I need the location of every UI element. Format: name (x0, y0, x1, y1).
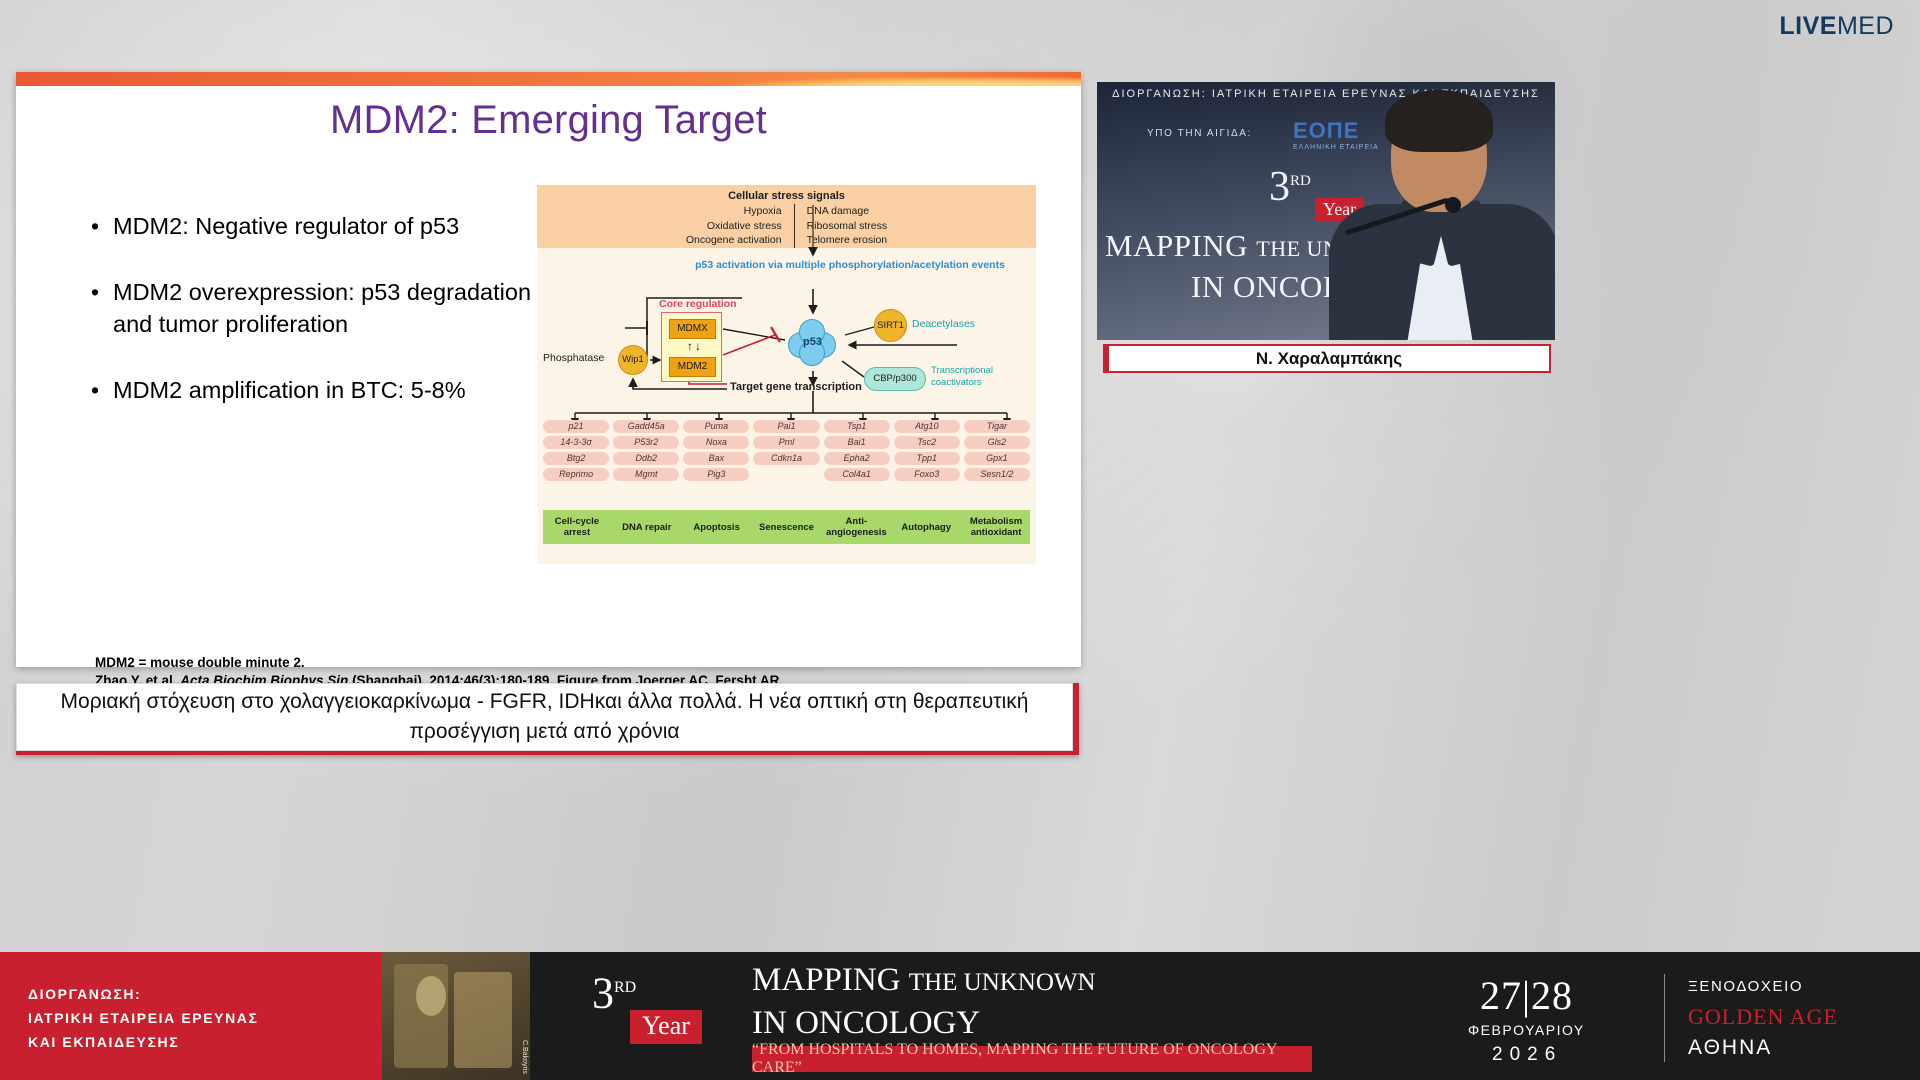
footer-hotel-label: ΞΕΝΟΔΟΧΕΙΟ (1688, 978, 1803, 995)
gene-chip: Gpx1 (964, 452, 1030, 465)
coactivators-label: Transcriptional coactivators (931, 365, 1036, 389)
stress-item: DNA damage (807, 204, 888, 219)
gene-chip: Reprimo (543, 468, 609, 481)
bullet-dot-icon: • (91, 276, 113, 340)
footer-artwork: C.Bakoyris (382, 952, 530, 1080)
target-gene-grid: p21 Gadd45a Puma Pai1 Tsp1 Atg10 Tigar 1… (543, 420, 1030, 481)
speaker-portrait (1325, 82, 1555, 340)
gene-chip: Epha2 (824, 452, 890, 465)
gene-chip: Gls2 (964, 436, 1030, 449)
footer-organizer: ΔΙΟΡΓΑΝΩΣΗ: ΙΑΤΡΙΚΗ ΕΤΑΙΡΕΙΑ ΕΡΕΥΝΑΣ ΚΑΙ… (0, 952, 382, 1080)
cbp-p300-node: CBP/p300 (864, 367, 926, 391)
stress-right-column: DNA damage Ribosomal stress Telomere ero… (795, 204, 888, 248)
presentation-slide: MDM2: Emerging Target • MDM2: Negative r… (16, 72, 1081, 667)
event-footer: ΔΙΟΡΓΑΝΩΣΗ: ΙΑΤΡΙΚΗ ΕΤΑΙΡΕΙΑ ΕΡΕΥΝΑΣ ΚΑΙ… (0, 952, 1920, 1080)
stress-item: Telomere erosion (807, 233, 888, 248)
speaker-video[interactable]: ΔΙΟΡΓΑΝΩΣΗ: ΙΑΤΡΙΚΗ ΕΤΑΙΡΕΙΑ ΕΡΕΥΝΑΣ ΚΑΙ… (1097, 82, 1555, 340)
gene-chip: Sesn1/2 (964, 468, 1030, 481)
video-aegis-label: ΥΠΟ ΤΗΝ ΑΙΓΙΔΑ: (1147, 128, 1252, 139)
list-item: • MDM2 amplification in BTC: 5-8% (91, 374, 541, 406)
gene-chip: Pml (753, 436, 819, 449)
p53-pathway-figure: Cellular stress signals Hypoxia Oxidativ… (537, 185, 1036, 564)
bullet-text: MDM2 amplification in BTC: 5-8% (113, 374, 466, 406)
footer-venue-block: 27|28 ΦΕΒΡΟΥΑΡΙΟΥ 2026 ΞΕΝΟΔΟΧΕΙΟ GOLDEN… (1450, 952, 1920, 1080)
bullet-dot-icon: • (91, 374, 113, 406)
function-label: Senescence (753, 510, 821, 544)
footer-ordinal: 3RD (592, 966, 636, 1016)
gene-chip: Col4a1 (824, 468, 890, 481)
cellular-stress-banner: Cellular stress signals Hypoxia Oxidativ… (537, 185, 1036, 248)
gene-function-row: Cell-cycle arrest DNA repair Apoptosis S… (543, 510, 1030, 544)
gene-chip: Bax (683, 452, 749, 465)
caption-frame: Μοριακή στόχευση στο χολαγγειοκαρκίνωμα … (16, 683, 1079, 755)
footer-year-badge: Year (630, 1010, 702, 1044)
mdmx-node: MDMX (669, 319, 716, 339)
core-regulation-box: MDMX ↑↓ MDM2 (661, 312, 722, 382)
footer-dates: 27|28 (1480, 972, 1573, 1019)
gene-chip: P53r2 (613, 436, 679, 449)
function-label: DNA repair (613, 510, 681, 544)
gene-chip: Ddb2 (613, 452, 679, 465)
stress-item: Hypoxia (686, 204, 782, 219)
organizer-line-1: ΔΙΟΡΓΑΝΩΣΗ: (28, 982, 382, 1006)
footer-event-block: 3RD Year MAPPING THE UNKNOWN IN ONCOLOGY… (552, 952, 1272, 1080)
gene-chip: Pig3 (683, 468, 749, 481)
footer-title-line-2: IN ONCOLOGY (752, 1003, 1096, 1044)
footer-year: 2026 (1492, 1044, 1562, 1066)
session-caption: Μοριακή στόχευση στο χολαγγειοκαρκίνωμα … (16, 683, 1073, 751)
p53-activation-label: p53 activation via multiple phosphorylat… (685, 259, 1015, 273)
list-item: • MDM2: Negative regulator of p53 (91, 210, 541, 242)
slide-accent-bar (16, 72, 1081, 86)
core-regulation-label: Core regulation (659, 298, 737, 310)
gene-chip: Noxa (683, 436, 749, 449)
target-gene-transcription-label: Target gene transcription (730, 381, 862, 393)
gene-chip: Cdkn1a (753, 452, 819, 465)
organizer-line-3: ΚΑΙ ΕΚΠΑΙΔΕΥΣΗΣ (28, 1030, 382, 1054)
wip1-node: Wip1 (618, 345, 648, 375)
footer-title-line-1: MAPPING THE UNKNOWN (752, 960, 1096, 1003)
livemed-logo-bold: LIVE (1779, 12, 1837, 40)
mdm2-node: MDM2 (669, 357, 716, 377)
livemed-logo: LIVEMED (1779, 14, 1894, 39)
footer-event-title: MAPPING THE UNKNOWN IN ONCOLOGY (752, 960, 1096, 1044)
stress-item: Oxidative stress (686, 219, 782, 234)
bullet-text: MDM2 overexpression: p53 degradation and… (113, 276, 541, 340)
slide-title: MDM2: Emerging Target (16, 98, 1081, 143)
gene-chip: Foxo3 (894, 468, 960, 481)
gene-chip-empty (753, 468, 819, 481)
stress-header: Cellular stress signals (537, 185, 1036, 202)
gene-chip: p21 (543, 420, 609, 433)
footer-tagline: “FROM HOSPITALS TO HOMES, MAPPING THE FU… (752, 1046, 1312, 1072)
gene-chip: Bai1 (824, 436, 890, 449)
sirt1-node: SIRT1 (874, 309, 907, 342)
phosphatase-label: Phosphatase (543, 352, 604, 364)
gene-chip: 14-3-3σ (543, 436, 609, 449)
stress-item: Ribosomal stress (807, 219, 888, 234)
footer-month: ΦΕΒΡΟΥΑΡΙΟΥ (1468, 1022, 1585, 1038)
slide-bullet-list: • MDM2: Negative regulator of p53 • MDM2… (91, 210, 541, 440)
speaker-name-frame: Ν. Χαραλαμπάκης (1103, 344, 1551, 373)
list-item: • MDM2 overexpression: p53 degradation a… (91, 276, 541, 340)
function-label: Metabolism antioxidant (962, 510, 1030, 544)
function-label: Cell-cycle arrest (543, 510, 611, 544)
p53-node: p53 (785, 318, 840, 368)
function-label: Apoptosis (683, 510, 751, 544)
function-label: Anti-angiogenesis (822, 510, 890, 544)
gene-chip: Gadd45a (613, 420, 679, 433)
gene-chip: Tigar (964, 420, 1030, 433)
citation-line-1: MDM2 = mouse double minute 2. (95, 654, 975, 672)
stress-left-column: Hypoxia Oxidative stress Oncogene activa… (686, 204, 795, 248)
gene-chip: Puma (683, 420, 749, 433)
footer-divider (1664, 974, 1665, 1062)
gene-chip: Mgmt (613, 468, 679, 481)
video-ordinal: 3RD (1269, 160, 1311, 208)
p53-label: p53 (785, 336, 840, 348)
gene-chip: Atg10 (894, 420, 960, 433)
artwork-credit: C.Bakoyris (521, 1040, 528, 1074)
gene-chip: Tsp1 (824, 420, 890, 433)
stress-item: Oncogene activation (686, 233, 782, 248)
gene-chip: Tpp1 (894, 452, 960, 465)
livemed-logo-light: MED (1837, 12, 1894, 40)
speaker-name: Ν. Χαραλαμπάκης (1109, 346, 1549, 371)
gene-chip: Pai1 (753, 420, 819, 433)
gene-chip: Btg2 (543, 452, 609, 465)
organizer-line-2: ΙΑΤΡΙΚΗ ΕΤΑΙΡΕΙΑ ΕΡΕΥΝΑΣ (28, 1006, 382, 1030)
function-label: Autophagy (892, 510, 960, 544)
core-arrow-icons: ↑↓ (687, 339, 703, 353)
bullet-dot-icon: • (91, 210, 113, 242)
screen-root: LIVEMED MDM2: Emerging Target • MDM2: Ne… (0, 0, 1920, 1080)
microphone-head-icon (1445, 197, 1461, 213)
deacetylases-label: Deacetylases (912, 318, 975, 330)
bullet-text: MDM2: Negative regulator of p53 (113, 210, 459, 242)
footer-hotel-name: GOLDEN AGE (1688, 1004, 1838, 1030)
footer-city: ΑΘΗΝΑ (1688, 1036, 1772, 1060)
gene-chip: Tsc2 (894, 436, 960, 449)
